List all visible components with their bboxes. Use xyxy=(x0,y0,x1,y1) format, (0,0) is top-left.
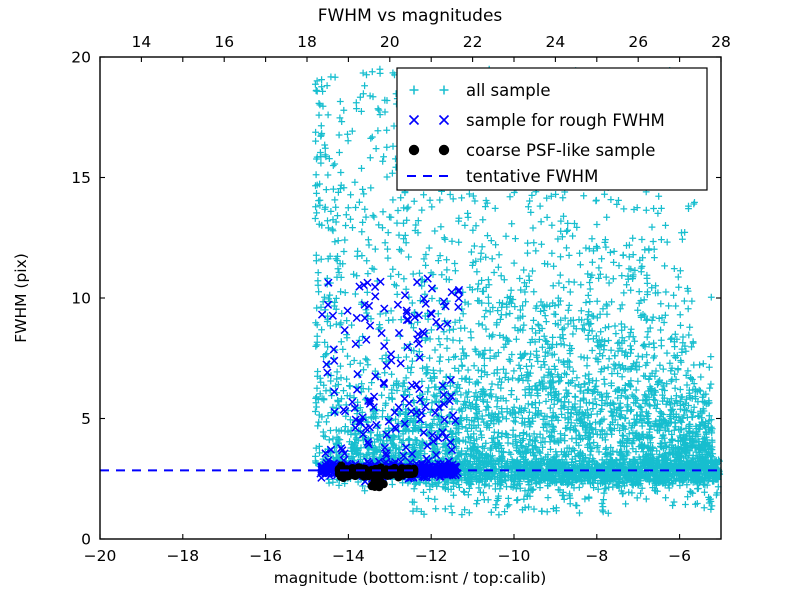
x-tick-label: −6 xyxy=(668,547,691,565)
y-axis-label: FWHM (pix) xyxy=(12,253,30,343)
x-top-tick-label: 14 xyxy=(132,33,152,51)
x-top-tick-label: 22 xyxy=(463,33,483,51)
x-tick-label: −16 xyxy=(249,547,282,565)
x-top-tick-label: 20 xyxy=(380,33,400,51)
x-top-tick-label: 28 xyxy=(711,33,731,51)
x-top-tick-label: 24 xyxy=(546,33,566,51)
y-tick-label: 15 xyxy=(71,169,91,187)
x-tick-label: −14 xyxy=(332,547,365,565)
x-tick-label: −12 xyxy=(415,547,448,565)
x-tick-label: −18 xyxy=(166,547,199,565)
y-tick-label: 5 xyxy=(81,410,91,428)
legend-label: sample for rough FWHM xyxy=(466,111,665,130)
chart-title: FWHM vs magnitudes xyxy=(318,6,503,26)
x-top-tick-label: 26 xyxy=(628,33,648,51)
legend[interactable]: all samplesample for rough FWHMcoarse PS… xyxy=(397,68,707,190)
legend-label: coarse PSF-like sample xyxy=(466,141,655,160)
x-top-tick-label: 18 xyxy=(297,33,317,51)
legend-label: all sample xyxy=(466,81,551,100)
x-tick-label: −8 xyxy=(585,547,608,565)
y-tick-label: 0 xyxy=(81,531,91,549)
x-top-tick-label: 16 xyxy=(214,33,234,51)
scatter-plot-canvas: −20−18−16−14−12−10−8−6 1416182022242628 … xyxy=(0,0,800,600)
x-tick-label: −10 xyxy=(498,547,531,565)
legend-label: tentative FWHM xyxy=(466,167,598,186)
y-tick-label: 20 xyxy=(71,49,91,67)
y-tick-label: 10 xyxy=(71,290,91,308)
x-tick-label: −20 xyxy=(84,547,117,565)
matplotlib-figure: −20−18−16−14−12−10−8−6 1416182022242628 … xyxy=(0,0,800,600)
x-axis-label: magnitude (bottom:isnt / top:calib) xyxy=(274,569,547,587)
